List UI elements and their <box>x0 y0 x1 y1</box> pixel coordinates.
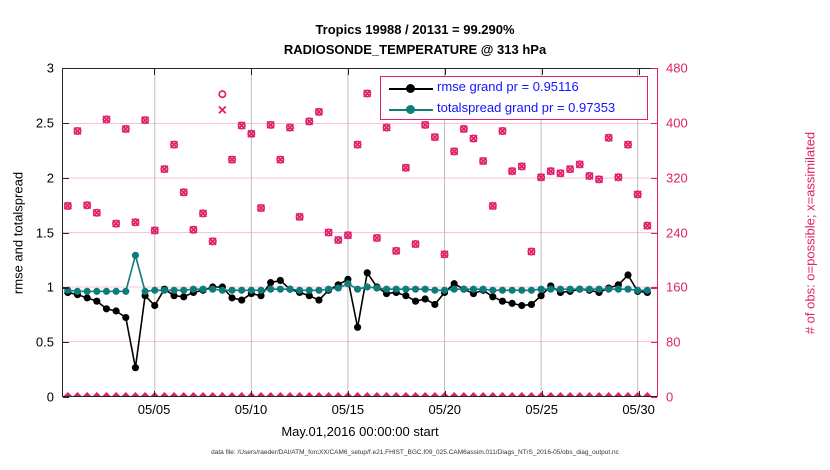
x-axis-tick: 05/10 <box>211 402 291 417</box>
legend-item-totalspread[interactable]: totalspread grand pr = 0.97353 <box>381 99 647 121</box>
y-axis-right-tick: 480 <box>666 61 726 76</box>
legend-label-totalspread: totalspread grand pr = 0.97353 <box>437 100 615 115</box>
tick-mark <box>651 397 657 398</box>
tick-mark <box>542 391 543 397</box>
tick-mark <box>63 397 69 398</box>
tick-mark <box>639 69 640 75</box>
data-file-path: data file: /Users/raeder/DAI/ATM_forcXX/… <box>0 449 830 456</box>
tick-mark <box>63 342 69 343</box>
x-axis-tick: 05/20 <box>405 402 485 417</box>
tick-mark <box>639 391 640 397</box>
y-axis-right-tick: 160 <box>666 280 726 295</box>
legend-marker-totalspread <box>406 105 415 114</box>
tick-mark <box>63 123 69 124</box>
tick-mark <box>251 391 252 397</box>
tick-mark <box>542 69 543 75</box>
tick-mark <box>63 233 69 234</box>
legend-marker-rmse <box>406 84 415 93</box>
y-axis-right-tick: 80 <box>666 335 726 350</box>
y-axis-right-label-wrap: # of obs: o=possible; x=assimilated <box>800 68 820 397</box>
x-axis-tick: 05/25 <box>502 402 582 417</box>
tick-mark <box>63 68 69 69</box>
tick-mark <box>348 391 349 397</box>
x-axis-tick: 05/05 <box>114 402 194 417</box>
right-axis-spine <box>657 68 658 397</box>
x-axis-label: May.01,2016 00:00:00 start <box>0 424 720 439</box>
figure-root: Tropics 19988 / 20131 = 99.290% RADIOSON… <box>0 0 830 470</box>
x-axis-tick: 05/15 <box>308 402 388 417</box>
tick-mark <box>445 69 446 75</box>
x-axis-tick: 05/30 <box>599 402 679 417</box>
tick-mark <box>348 69 349 75</box>
y-axis-right-tick: 240 <box>666 225 726 240</box>
y-axis-right-tick: 400 <box>666 115 726 130</box>
tick-mark <box>445 391 446 397</box>
y-axis-right-tick: 320 <box>666 170 726 185</box>
chart-legend[interactable]: rmse grand pr = 0.95116 totalspread gran… <box>380 76 648 120</box>
tick-mark <box>154 391 155 397</box>
chart-title-line2: RADIOSONDE_TEMPERATURE @ 313 hPa <box>0 42 830 57</box>
tick-mark <box>154 69 155 75</box>
legend-item-rmse[interactable]: rmse grand pr = 0.95116 <box>381 78 647 100</box>
legend-label-rmse: rmse grand pr = 0.95116 <box>437 79 579 94</box>
y-axis-right-label: # of obs: o=possible; x=assimilated <box>803 131 818 333</box>
y-axis-left-label-wrap: rmse and totalspread <box>8 68 28 397</box>
tick-mark <box>63 287 69 288</box>
y-axis-left-label: rmse and totalspread <box>11 171 26 293</box>
tick-mark <box>63 178 69 179</box>
chart-title-line1: Tropics 19988 / 20131 = 99.290% <box>0 22 830 37</box>
tick-mark <box>251 69 252 75</box>
